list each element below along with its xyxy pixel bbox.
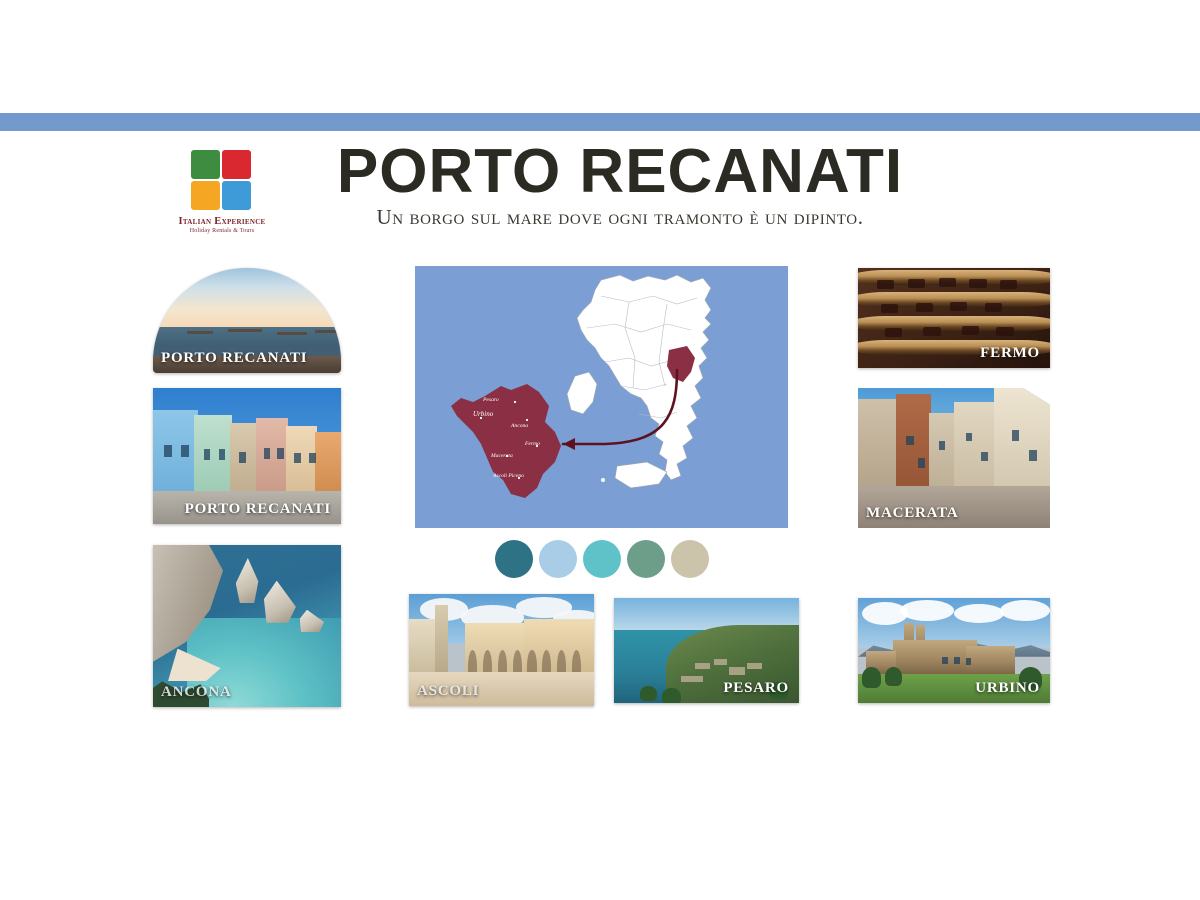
brand-logo[interactable]: Italian Experience Holiday Rentals & Tou…: [168, 150, 276, 245]
logo-brand-name: Italian Experience: [168, 216, 276, 227]
card-porto-recanati-houses[interactable]: PORTO RECANATI: [153, 388, 341, 524]
puzzle-piece-orange: [191, 181, 220, 210]
puzzle-logo-icon: [191, 150, 253, 212]
map-label-macerata: Macerata: [490, 453, 513, 459]
card-ancona[interactable]: ANCONA: [153, 545, 341, 707]
puzzle-piece-red: [222, 150, 251, 179]
palette-swatch-1[interactable]: [495, 540, 533, 578]
card-fermo[interactable]: FERMO: [858, 268, 1050, 368]
card-caption: ANCONA: [161, 684, 232, 701]
card-caption: PORTO RECANATI: [185, 501, 331, 518]
card-caption: URBINO: [975, 680, 1040, 697]
photo-ancona-coast: [153, 545, 341, 707]
palette-swatch-5[interactable]: [671, 540, 709, 578]
card-ascoli[interactable]: ASCOLI: [409, 594, 594, 706]
palette-swatch-3[interactable]: [583, 540, 621, 578]
card-caption: PORTO RECANATI: [161, 350, 307, 367]
sicily: [615, 462, 667, 488]
map-label-ascoli-piceno: Ascoli Piceno: [492, 473, 524, 479]
card-porto-recanati-beach[interactable]: PORTO RECANATI: [153, 268, 341, 373]
card-caption: MACERATA: [866, 505, 959, 522]
card-caption: PESARO: [723, 680, 789, 697]
header: Italian Experience Holiday Rentals & Tou…: [0, 140, 1200, 250]
card-macerata[interactable]: MACERATA: [858, 388, 1050, 528]
card-caption: FERMO: [980, 345, 1040, 362]
marche-region-enlarged: Pesaro Urbino Ancona Fermo Macerata Asco…: [451, 384, 561, 498]
map-label-fermo: Fermo: [524, 441, 540, 447]
map-label-ancona: Ancona: [510, 423, 528, 429]
map-label-urbino: Urbino: [473, 410, 494, 418]
palette-swatch-2[interactable]: [539, 540, 577, 578]
italy-map-svg: Pesaro Urbino Ancona Fermo Macerata Asco…: [415, 266, 788, 528]
map-label-pesaro: Pesaro: [482, 397, 499, 403]
sardinia: [567, 372, 597, 414]
map-panel[interactable]: Pesaro Urbino Ancona Fermo Macerata Asco…: [415, 266, 788, 528]
logo-tagline: Holiday Rentals & Tours: [168, 228, 276, 234]
palette-swatch-4[interactable]: [627, 540, 665, 578]
page-title: PORTO RECANATI: [300, 140, 940, 203]
card-caption: ASCOLI: [417, 683, 479, 700]
card-pesaro[interactable]: PESARO: [614, 598, 799, 703]
title-block: PORTO RECANATI Un borgo sul mare dove og…: [300, 140, 940, 230]
puzzle-piece-blue: [222, 181, 251, 210]
top-banner-bar: [0, 113, 1200, 131]
card-urbino[interactable]: URBINO: [858, 598, 1050, 703]
italy-mainland: [577, 275, 711, 480]
puzzle-piece-green: [191, 150, 220, 179]
page-subtitle: Un borgo sul mare dove ogni tramonto è u…: [300, 205, 940, 230]
color-palette: [495, 540, 710, 582]
